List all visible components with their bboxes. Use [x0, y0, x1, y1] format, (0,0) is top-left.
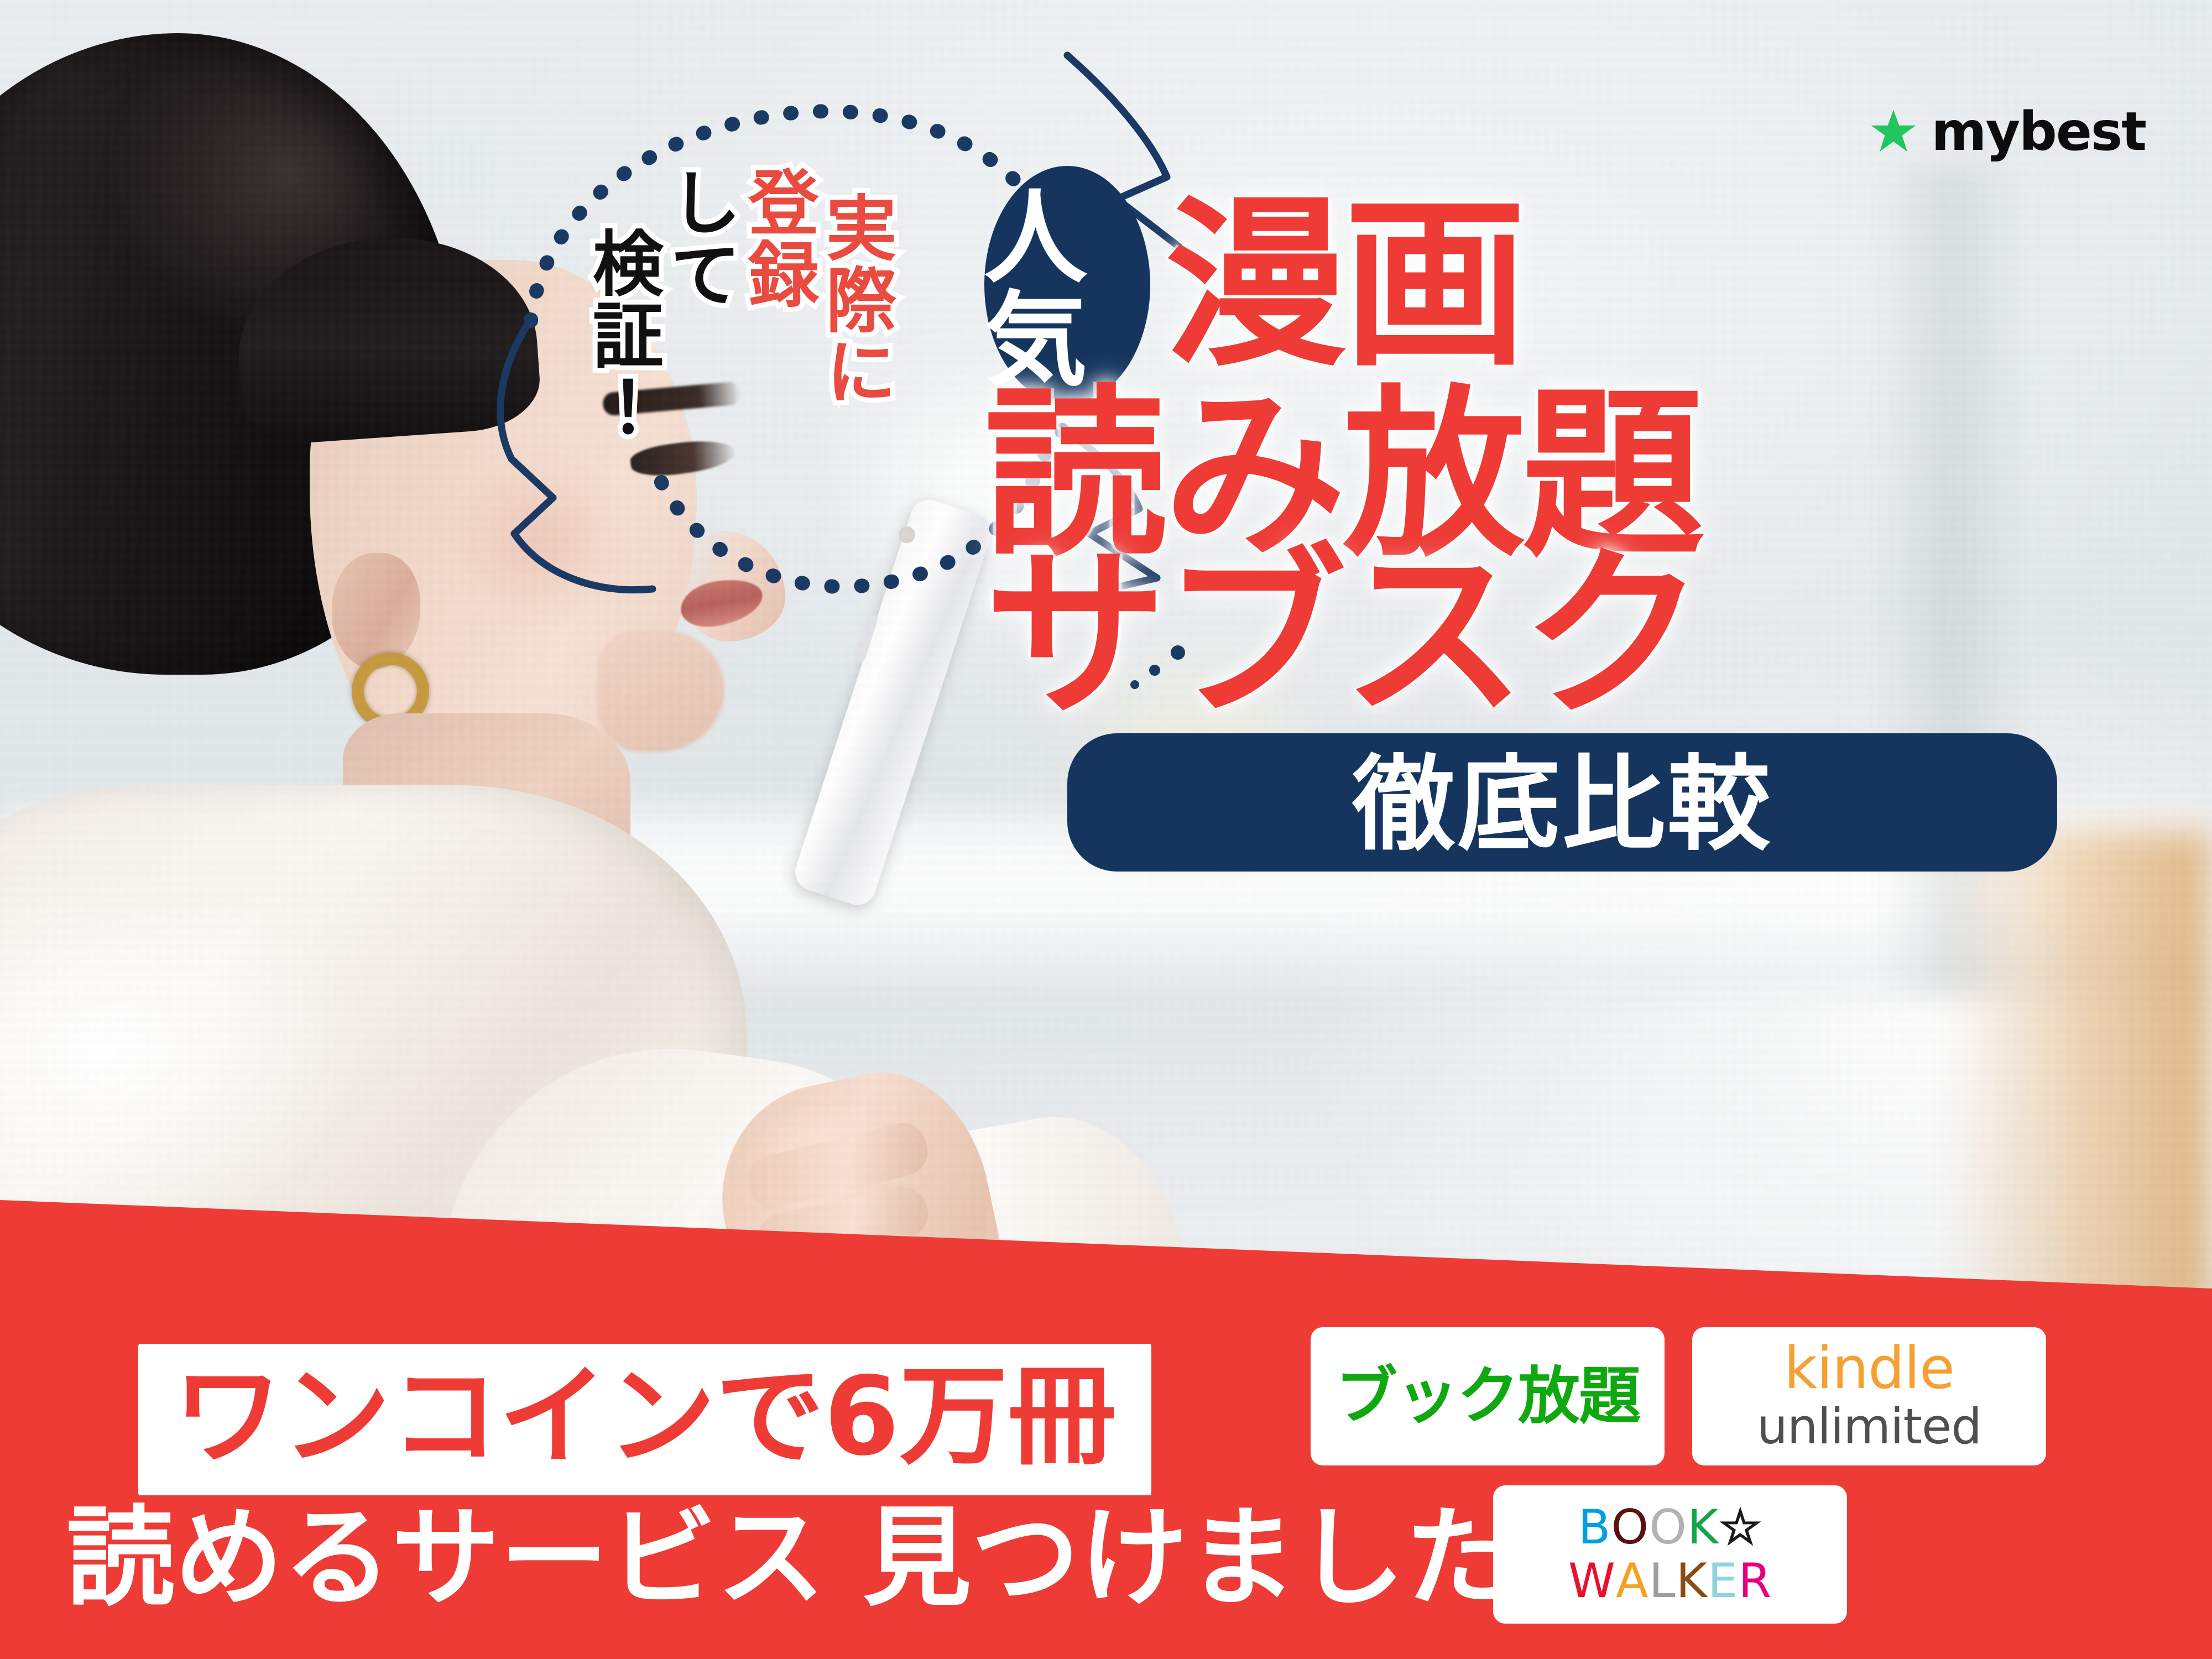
- book-walker-line-2: WALKER: [1568, 1556, 1772, 1607]
- headline-block: 人気 漫画 読み放題 サブスク 徹底比較: [984, 166, 2157, 872]
- bukku-hodai-label: ブック放題: [1335, 1365, 1640, 1427]
- bubble-column-2-red: 登録: [740, 166, 813, 310]
- book-walker-glyph: O: [1611, 1502, 1650, 1553]
- book-walker-glyph: ☆: [1719, 1502, 1762, 1553]
- mybest-logo[interactable]: mybest: [1870, 105, 2146, 158]
- book-walker-line-1: BOOK☆: [1578, 1502, 1762, 1553]
- book-walker-glyph: A: [1616, 1556, 1649, 1607]
- kindle-label: kindle: [1784, 1339, 1954, 1397]
- book-walker-glyph: K: [1687, 1502, 1719, 1553]
- highlight-box: ワンコインで6万冊: [138, 1344, 1151, 1495]
- service-card-kindle-unlimited[interactable]: kindle unlimited: [1692, 1327, 2046, 1465]
- bubble-column-2-black: して: [662, 166, 735, 310]
- speech-bubble-text: 実際に 登録 して 検証！: [514, 166, 890, 597]
- tettei-hikaku-pill: 徹底比較: [1067, 733, 2057, 872]
- ninki-badge: 人気: [984, 166, 1150, 404]
- book-walker-glyph: R: [1738, 1556, 1772, 1607]
- book-walker-glyph: L: [1649, 1556, 1676, 1607]
- book-walker-glyph: O: [1649, 1502, 1687, 1553]
- headline-line-3: サブスク: [984, 544, 2157, 727]
- tettei-hikaku-label: 徹底比較: [1352, 753, 1772, 856]
- mybest-wordmark: mybest: [1932, 105, 2146, 158]
- service-card-book-walker[interactable]: BOOK☆ WALKER: [1493, 1485, 1847, 1624]
- service-card-bukku-hodai[interactable]: ブック放題: [1311, 1327, 1665, 1465]
- headline-line-1: 漫画: [1165, 194, 1523, 376]
- ninki-badge-label: 人気: [984, 186, 1150, 392]
- service-logo-grid: ブック放題 kindle unlimited BOOK☆ WALKER: [1311, 1327, 2129, 1624]
- highlight-text: ワンコインで6万冊: [174, 1363, 1116, 1471]
- book-walker-glyph: W: [1568, 1556, 1616, 1607]
- star-icon: [1870, 108, 1917, 155]
- book-walker-glyph: K: [1676, 1556, 1708, 1607]
- book-walker-glyph: E: [1708, 1556, 1738, 1607]
- book-walker-glyph: B: [1578, 1502, 1611, 1553]
- banner-canvas: 実際に 登録 して 検証！ mybest 人気 漫画 読み放題 サブスク 徹底比…: [0, 0, 2212, 1659]
- unlimited-label: unlimited: [1757, 1400, 1981, 1454]
- bubble-column-1: 実際に: [818, 191, 890, 407]
- bubble-column-3: 検証！: [585, 227, 658, 442]
